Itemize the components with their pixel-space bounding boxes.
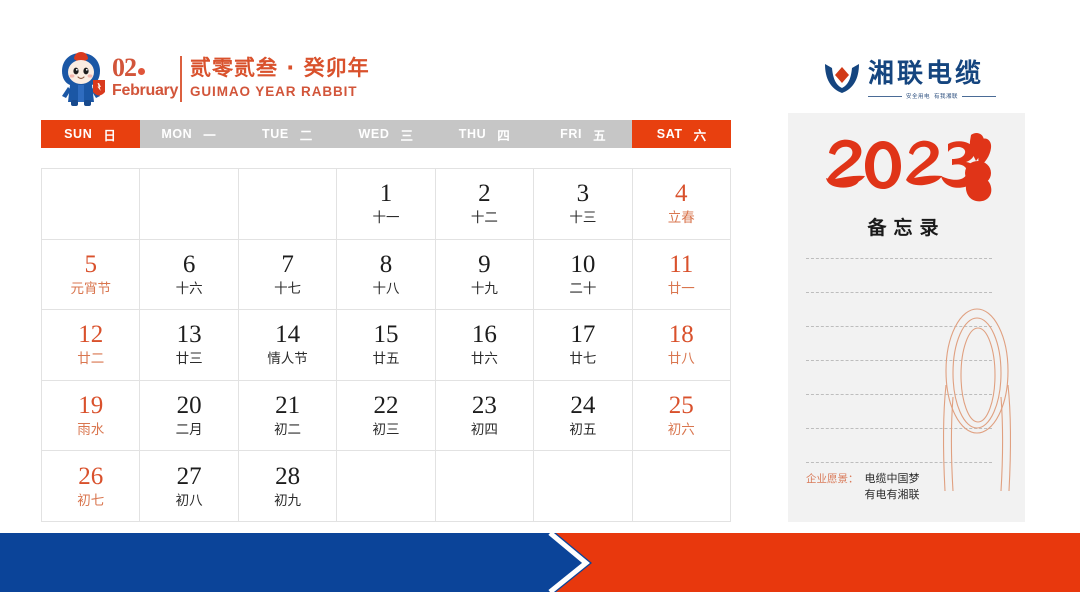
- footer-blue-block: [0, 533, 600, 592]
- memo-title: 备忘录: [788, 213, 1025, 240]
- weekday-cn: 六: [694, 125, 707, 144]
- vision-text: 电缆中国梦 有电有湘联: [865, 471, 920, 503]
- company-name-cn: 湘联电缆: [868, 57, 984, 91]
- calendar-day-cell[interactable]: 21初二: [239, 381, 337, 452]
- calendar-cell-empty: [534, 451, 632, 522]
- weekday-header-sat: SAT六: [632, 120, 731, 148]
- memo-note-line[interactable]: [806, 258, 992, 259]
- day-number: 18: [669, 321, 694, 348]
- lunar-label: 廿一: [668, 280, 695, 298]
- day-number: 22: [373, 392, 398, 419]
- lunar-label: 初七: [77, 492, 104, 510]
- company-vision: 企业愿景： 电缆中国梦 有电有湘联: [806, 471, 1016, 503]
- memo-note-line[interactable]: [806, 462, 992, 463]
- calendar-day-cell[interactable]: 27初八: [140, 451, 238, 522]
- weekday-cn: 日: [103, 125, 116, 144]
- calendar-day-cell[interactable]: 18廿八: [633, 310, 731, 381]
- day-number: 9: [478, 251, 491, 278]
- calendar-cell-empty: [140, 169, 238, 240]
- year-label-cn: 贰零贰叁 · 癸卯年: [190, 56, 370, 81]
- calendar-cell-empty: [337, 451, 435, 522]
- page-header: 02 February 贰零贰叁 · 癸卯年 GUIMAO YEAR RABBI…: [0, 0, 1080, 118]
- day-number: 25: [669, 392, 694, 419]
- calendar-day-cell[interactable]: 8十八: [337, 240, 435, 311]
- memo-note-lines: [806, 258, 992, 463]
- weekday-en: SUN: [64, 127, 92, 141]
- lunar-label: 十三: [569, 209, 596, 227]
- day-number: 5: [84, 251, 97, 278]
- memo-note-line[interactable]: [806, 428, 992, 429]
- month-dot-icon: [138, 68, 145, 75]
- calendar-day-cell[interactable]: 10二十: [534, 240, 632, 311]
- day-number: 8: [380, 251, 393, 278]
- memo-note-line[interactable]: [806, 326, 992, 327]
- calendar-grid: 1十一2十二3十三4立春5元宵节6十六7十七8十八9十九10二十11廿一12廿二…: [41, 168, 731, 522]
- lunar-label: 初九: [274, 492, 301, 510]
- month-number: 02: [112, 55, 174, 81]
- lunar-label: 廿七: [569, 350, 596, 368]
- company-logo: 湘联电缆 安全用电 有我湘联: [822, 57, 997, 109]
- lunar-label: 初五: [569, 421, 596, 439]
- xianglian-diamond-icon: [822, 59, 862, 95]
- calendar-day-cell[interactable]: 2十二: [436, 169, 534, 240]
- slogan-rule-left: [868, 96, 902, 97]
- day-number: 11: [669, 251, 693, 278]
- footer-red-block: [556, 533, 1080, 592]
- calendar-day-cell[interactable]: 1十一: [337, 169, 435, 240]
- month-name: February: [112, 82, 174, 100]
- lunar-label: 初三: [372, 421, 399, 439]
- memo-panel: 备忘录 企业愿景： 电缆中国梦 有电有湘联: [788, 113, 1025, 522]
- calendar-day-cell[interactable]: 28初九: [239, 451, 337, 522]
- weekday-header-bar: SUN日MON一TUE二WED三THU四FRI五SAT六: [41, 120, 731, 148]
- lunar-label: 二十: [569, 280, 596, 298]
- year-label-en: GUIMAO YEAR RABBIT: [190, 83, 370, 100]
- calendar-day-cell[interactable]: 3十三: [534, 169, 632, 240]
- weekday-header-thu: THU四: [435, 120, 534, 148]
- weekday-header-sun: SUN日: [41, 120, 140, 148]
- weekday-en: WED: [358, 127, 389, 141]
- day-number: 28: [275, 463, 300, 490]
- weekday-cn: 三: [400, 125, 413, 144]
- calendar-day-cell[interactable]: 17廿七: [534, 310, 632, 381]
- lunar-label: 廿二: [77, 350, 104, 368]
- lunar-label: 情人节: [267, 350, 308, 368]
- weekday-en: THU: [459, 127, 487, 141]
- lunar-label: 初六: [668, 421, 695, 439]
- slogan-left: 安全用电: [906, 92, 930, 100]
- day-number: 12: [78, 321, 103, 348]
- day-number: 7: [281, 251, 294, 278]
- calendar-day-cell[interactable]: 26初七: [42, 451, 140, 522]
- brush-rabbit-2023-icon: [821, 129, 993, 207]
- weekday-cn: 四: [497, 125, 510, 144]
- calendar-day-cell[interactable]: 16廿六: [436, 310, 534, 381]
- footer-color-bar: [0, 533, 1080, 592]
- weekday-cn: 五: [593, 125, 606, 144]
- day-number: 3: [577, 180, 590, 207]
- day-number: 10: [570, 251, 595, 278]
- day-number: 17: [570, 321, 595, 348]
- lunar-label: 初四: [471, 421, 498, 439]
- calendar-day-cell[interactable]: 24初五: [534, 381, 632, 452]
- lunar-label: 雨水: [77, 421, 104, 439]
- day-number: 20: [177, 392, 202, 419]
- weekday-header-tue: TUE二: [238, 120, 337, 148]
- calendar-cell-empty: [239, 169, 337, 240]
- lunar-label: 初八: [176, 492, 203, 510]
- lunar-label: 廿五: [372, 350, 399, 368]
- lunar-label: 廿六: [471, 350, 498, 368]
- day-number: 4: [675, 180, 688, 207]
- weekday-header-wed: WED三: [337, 120, 436, 148]
- calendar-day-cell[interactable]: 22初三: [337, 381, 435, 452]
- calendar-day-cell[interactable]: 11廿一: [633, 240, 731, 311]
- day-number: 19: [78, 392, 103, 419]
- day-number: 2: [478, 180, 491, 207]
- weekday-header-fri: FRI五: [534, 120, 633, 148]
- calendar-day-cell[interactable]: 14情人节: [239, 310, 337, 381]
- slogan-rule-right: [962, 96, 996, 97]
- calendar-day-cell[interactable]: 7十七: [239, 240, 337, 311]
- calendar-day-cell[interactable]: 12廿二: [42, 310, 140, 381]
- calendar-day-cell[interactable]: 23初四: [436, 381, 534, 452]
- vision-line-1: 电缆中国梦: [865, 472, 920, 485]
- slogan-right: 有我湘联: [934, 92, 958, 100]
- company-slogan: 安全用电 有我湘联: [868, 92, 996, 100]
- day-number: 26: [78, 463, 103, 490]
- weekday-en: SAT: [657, 127, 683, 141]
- weekday-cn: 一: [203, 125, 216, 144]
- day-number: 1: [380, 180, 393, 207]
- lunar-label: 十二: [471, 209, 498, 227]
- vision-line-2: 有电有湘联: [865, 488, 920, 501]
- calendar-day-cell[interactable]: 15廿五: [337, 310, 435, 381]
- calendar-day-cell[interactable]: 25初六: [633, 381, 731, 452]
- calendar-day-cell[interactable]: 6十六: [140, 240, 238, 311]
- memo-note-line[interactable]: [806, 394, 992, 395]
- calendar-day-cell[interactable]: 20二月: [140, 381, 238, 452]
- day-number: 6: [183, 251, 196, 278]
- day-number: 14: [275, 321, 300, 348]
- lunar-label: 十七: [274, 280, 301, 298]
- calendar-cell-empty: [42, 169, 140, 240]
- lunar-label: 二月: [176, 421, 203, 439]
- header-divider: [180, 56, 182, 102]
- day-number: 21: [275, 392, 300, 419]
- day-number: 16: [472, 321, 497, 348]
- day-number: 13: [177, 321, 202, 348]
- calendar-day-cell[interactable]: 4立春: [633, 169, 731, 240]
- day-number: 24: [570, 392, 595, 419]
- calendar-day-cell[interactable]: 9十九: [436, 240, 534, 311]
- calendar-day-cell[interactable]: 13廿三: [140, 310, 238, 381]
- lunar-label: 初二: [274, 421, 301, 439]
- weekday-header-mon: MON一: [140, 120, 239, 148]
- memo-note-line[interactable]: [806, 292, 992, 293]
- lunar-label: 元宵节: [70, 280, 111, 298]
- day-number: 15: [373, 321, 398, 348]
- lunar-label: 廿三: [176, 350, 203, 368]
- calendar-day-cell[interactable]: 19雨水: [42, 381, 140, 452]
- lunar-label: 十九: [471, 280, 498, 298]
- weekday-en: MON: [161, 127, 192, 141]
- lunar-label: 廿八: [668, 350, 695, 368]
- lunar-label: 十一: [372, 209, 399, 227]
- mascot-character-icon: [55, 50, 107, 108]
- calendar-cell-empty: [436, 451, 534, 522]
- lunar-label: 十八: [372, 280, 399, 298]
- lunar-label: 十六: [176, 280, 203, 298]
- year-block: 贰零贰叁 · 癸卯年 GUIMAO YEAR RABBIT: [190, 56, 370, 100]
- weekday-en: TUE: [262, 127, 289, 141]
- day-number: 23: [472, 392, 497, 419]
- calendar-cell-empty: [633, 451, 731, 522]
- vision-label: 企业愿景：: [806, 471, 859, 487]
- weekday-en: FRI: [560, 127, 582, 141]
- weekday-cn: 二: [300, 125, 313, 144]
- calendar-day-cell[interactable]: 5元宵节: [42, 240, 140, 311]
- day-number: 27: [177, 463, 202, 490]
- month-block: 02 February: [112, 55, 174, 105]
- memo-note-line[interactable]: [806, 360, 992, 361]
- lunar-label: 立春: [668, 209, 695, 227]
